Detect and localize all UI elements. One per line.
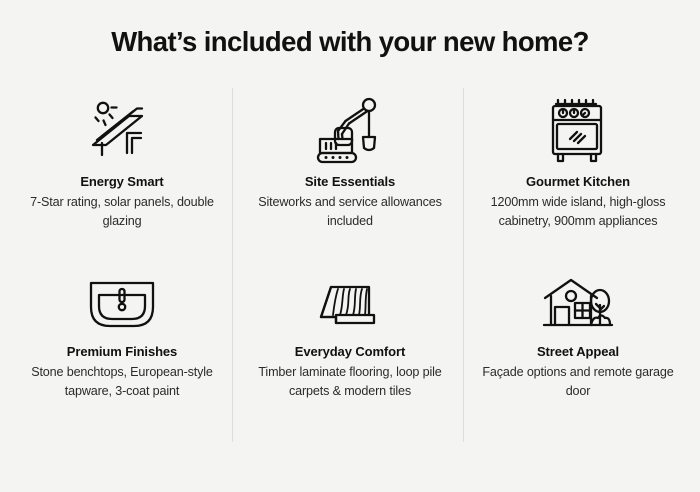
sink-basin-icon [84,268,160,342]
feature-title: Premium Finishes [67,344,177,359]
feature-description: 1200mm wide island, high-gloss cabinetry… [480,193,676,231]
feature-card-street-appeal: Street Appeal Façade options and remote … [464,268,692,448]
feature-description: Timber laminate flooring, loop pile carp… [252,363,448,401]
feature-description: 7-Star rating, solar panels, double glaz… [24,193,220,231]
feature-card-site-essentials: Site Essentials Siteworks and service al… [236,88,464,268]
timber-flooring-icon [314,268,386,342]
house-tree-icon [540,268,616,342]
page-title: What’s included with your new home? [0,26,700,58]
solar-panel-icon [85,88,159,172]
feature-description: Stone benchtops, European-style tapware,… [24,363,220,401]
feature-card-everyday-comfort: Everyday Comfort Timber laminate floorin… [236,268,464,448]
feature-title: Energy Smart [80,174,163,189]
feature-card-premium-finishes: Premium Finishes Stone benchtops, Europe… [8,268,236,448]
oven-icon [545,88,611,172]
features-grid: Energy Smart 7-Star rating, solar panels… [8,88,692,448]
feature-title: Site Essentials [305,174,395,189]
feature-card-gourmet-kitchen: Gourmet Kitchen 1200mm wide island, high… [464,88,692,268]
inclusions-panel: What’s included with your new home? [0,0,700,492]
excavator-icon [311,88,389,172]
feature-card-energy-smart: Energy Smart 7-Star rating, solar panels… [8,88,236,268]
feature-title: Everyday Comfort [295,344,405,359]
feature-title: Gourmet Kitchen [526,174,630,189]
feature-description: Siteworks and service allowances include… [252,193,448,231]
feature-title: Street Appeal [537,344,619,359]
feature-description: Façade options and remote garage door [480,363,676,401]
